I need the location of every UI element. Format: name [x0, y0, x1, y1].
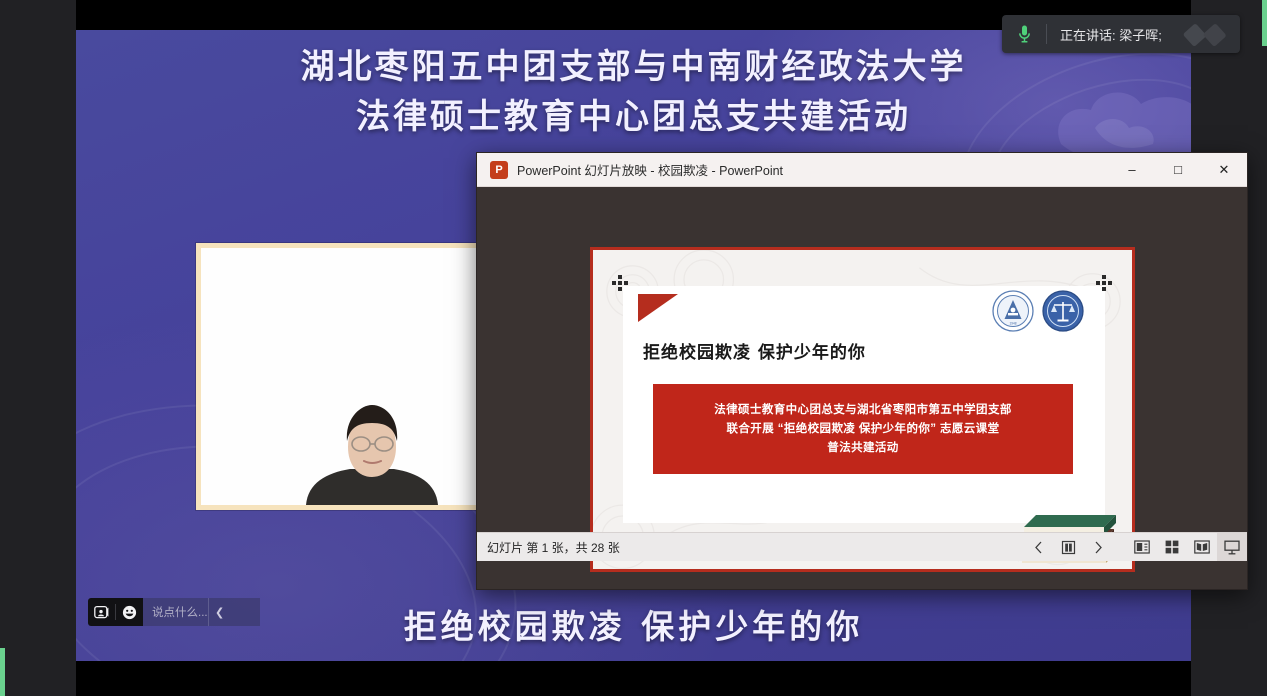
chat-collapse-button[interactable]: ❮ [208, 598, 231, 626]
minimize-button[interactable]: – [1109, 153, 1155, 186]
pointer-options-button[interactable] [1053, 533, 1083, 561]
speaking-decoration-icon [1182, 17, 1234, 51]
banner-text-line-3: 普法共建活动 [827, 442, 898, 454]
banner-text-line-1: 法律硕士教育中心团总支与湖北省枣阳市第五中学团支部 [714, 404, 1012, 416]
powerpoint-window[interactable]: P PowerPoint 幻灯片放映 - 校园欺凌 - PowerPoint –… [476, 152, 1248, 590]
letterbox-bottom [76, 661, 1191, 696]
university-emblem-zuel-icon: 1948 [992, 290, 1034, 332]
slide-surface[interactable]: 拒绝校园欺凌 保护少年的你 1948 [590, 247, 1135, 572]
next-slide-button[interactable] [1083, 533, 1113, 561]
red-triangle-shape [638, 294, 678, 322]
maximize-button[interactable]: □ [1155, 153, 1201, 186]
smiley-face-icon[interactable] [116, 598, 143, 626]
window-controls: – □ ✕ [1109, 153, 1247, 186]
close-button[interactable]: ✕ [1201, 153, 1247, 186]
screen: 湖北枣阳五中团支部与中南财经政法大学 法律硕士教育中心团总支共建活动 拒绝校园欺… [0, 0, 1267, 696]
chat-toolbar-icons [88, 598, 143, 626]
banner-line-2: 法律硕士教育中心团总支共建活动 [76, 92, 1191, 142]
slideshow-view-button[interactable] [1217, 533, 1247, 561]
accent-edge-left [0, 648, 5, 696]
powerpoint-icon: P [490, 161, 508, 179]
desktop-left-panel [0, 0, 76, 696]
corner-ornament-icon [612, 275, 629, 292]
speaking-label: 正在讲话: 梁子晖; [1060, 25, 1162, 44]
reading-view-button[interactable] [1187, 533, 1217, 561]
chat-input-placeholder: 说点什么... [152, 604, 208, 620]
banner-text-line-2: 联合开展 “拒绝校园欺凌 保护少年的你” 志愿云课堂 [727, 423, 1000, 435]
slide-logos: 1948 [992, 290, 1084, 332]
participant-silhouette [292, 397, 452, 505]
chat-toolbar: 说点什么... ❮ [88, 598, 260, 626]
accent-edge-right [1262, 0, 1267, 46]
chat-input-wrap[interactable]: 说点什么... ❮ [143, 598, 260, 626]
slideshow-canvas[interactable]: 拒绝校园欺凌 保护少年的你 1948 [477, 187, 1247, 561]
speaking-divider [1046, 24, 1047, 44]
all-slides-button[interactable] [1157, 533, 1187, 561]
slideshow-tools [1023, 533, 1247, 561]
slide-counter: 幻灯片 第 1 张，共 28 张 [487, 539, 620, 556]
slide-title: 拒绝校园欺凌 保护少年的你 [643, 338, 866, 363]
presenter-view-button[interactable] [1127, 533, 1157, 561]
speaking-indicator: 正在讲话: 梁子晖; [1002, 15, 1240, 53]
window-title: PowerPoint 幻灯片放映 - 校园欺凌 - PowerPoint [517, 160, 783, 179]
corner-ornament-icon [1096, 275, 1113, 292]
video-frame-person-icon[interactable] [88, 598, 115, 626]
svg-text:1948: 1948 [1009, 322, 1016, 326]
previous-slide-button[interactable] [1023, 533, 1053, 561]
microphone-icon [1002, 15, 1046, 53]
slide-banner-text: 法律硕士教育中心团总支与湖北省枣阳市第五中学团支部 联合开展 “拒绝校园欺凌 保… [708, 401, 1018, 458]
law-school-scales-emblem-icon [1042, 290, 1084, 332]
slideshow-status-bar: 幻灯片 第 1 张，共 28 张 [477, 532, 1247, 561]
powerpoint-titlebar[interactable]: P PowerPoint 幻灯片放映 - 校园欺凌 - PowerPoint –… [477, 153, 1247, 187]
meeting-banner-title: 湖北枣阳五中团支部与中南财经政法大学 法律硕士教育中心团总支共建活动 [76, 42, 1191, 142]
slide-red-banner: 法律硕士教育中心团总支与湖北省枣阳市第五中学团支部 联合开展 “拒绝校园欺凌 保… [653, 384, 1073, 474]
